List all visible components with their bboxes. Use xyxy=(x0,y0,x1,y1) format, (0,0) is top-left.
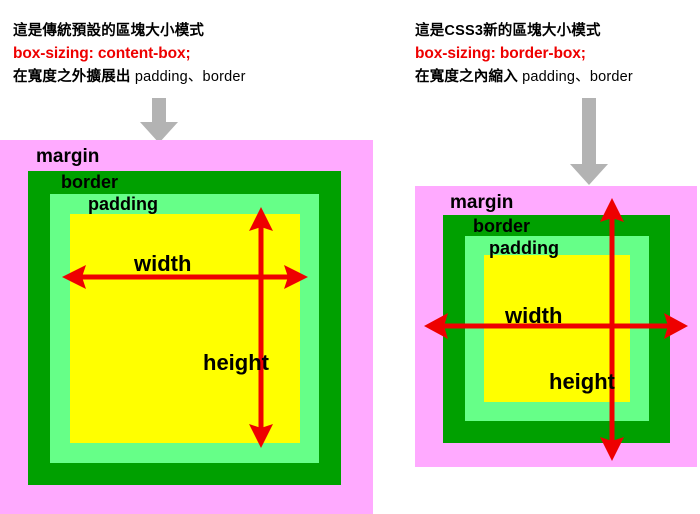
caption-note-right: 在寬度之內縮入 padding、border xyxy=(415,66,633,88)
caption-note-latin-right: padding、border xyxy=(522,69,633,85)
caption-code-left: box-sizing: content-box; xyxy=(13,42,246,66)
caption-content-box: 這是傳統預設的區塊大小模式 box-sizing: content-box; 在… xyxy=(13,20,246,89)
content-area xyxy=(70,214,300,443)
caption-heading-right: 這是CSS3新的區塊大小模式 xyxy=(415,20,633,42)
arrow-down-icon xyxy=(568,98,610,186)
width-label: width xyxy=(134,251,191,277)
caption-note-prefix-left: 在寬度之外擴展出 xyxy=(13,69,131,85)
border-label: border xyxy=(61,172,118,193)
width-label: width xyxy=(505,303,562,329)
margin-label: margin xyxy=(36,146,99,168)
padding-label: padding xyxy=(489,238,559,259)
caption-note-left: 在寬度之外擴展出 padding、border xyxy=(13,66,246,88)
caption-heading-left: 這是傳統預設的區塊大小模式 xyxy=(13,20,246,42)
height-label: height xyxy=(203,350,269,376)
margin-label: margin xyxy=(450,192,513,214)
caption-note-latin-left: padding、border xyxy=(135,69,246,85)
arrow-down-icon xyxy=(138,98,180,144)
height-label: height xyxy=(549,369,615,395)
border-label: border xyxy=(473,216,530,237)
caption-note-prefix-right: 在寬度之內縮入 xyxy=(415,69,518,85)
caption-border-box: 這是CSS3新的區塊大小模式 box-sizing: border-box; 在… xyxy=(415,20,633,89)
caption-code-right: box-sizing: border-box; xyxy=(415,42,633,66)
padding-label: padding xyxy=(88,194,158,215)
